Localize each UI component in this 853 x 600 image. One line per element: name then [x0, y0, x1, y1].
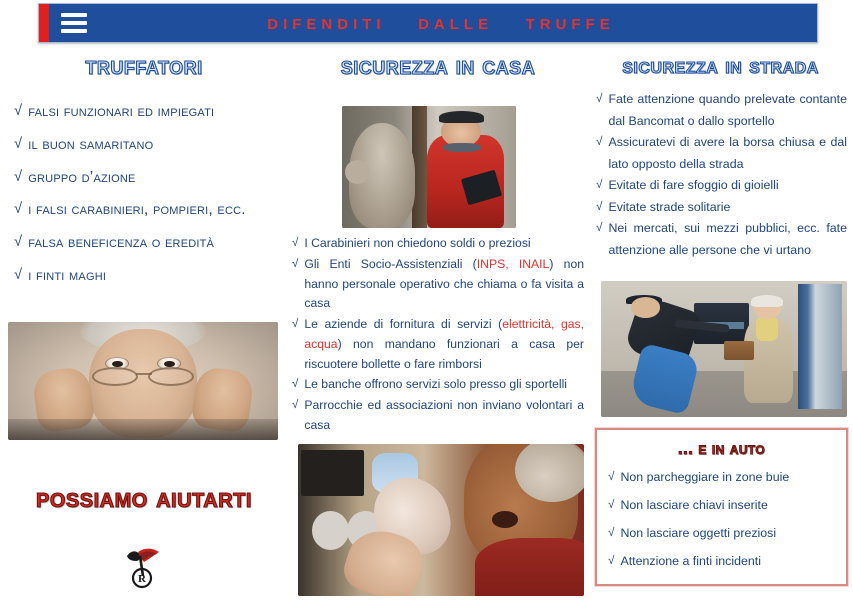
poster-page: Difenditi dalle Truffe Truffatori √ Fals… — [0, 0, 853, 600]
dark-panel-shape — [301, 450, 364, 496]
hamburger-line — [61, 13, 87, 17]
column-title-sicurezza-casa: Sicurezza in casa — [290, 52, 586, 81]
list-item-label: Le aziende di fornitura di servizi (elet… — [304, 315, 584, 374]
hair-bun-shape — [345, 160, 369, 184]
check-icon: √ — [14, 201, 22, 218]
shop-door-shape — [798, 284, 842, 409]
truffatori-list: √ Falsi Funzionari ed Impiegati √ Il Buo… — [0, 103, 288, 285]
list-item-label: Fate attenzione quando prelevate contant… — [608, 89, 847, 132]
thief-head-shape — [631, 297, 661, 317]
list-item-label: I falsi Carabinieri, Pompieri, ecc. — [28, 201, 288, 219]
list-item: √ Gruppo d’Azione — [14, 169, 288, 187]
sicurezza-casa-list: √ I Carabinieri non chiedono soldi o pre… — [292, 234, 584, 437]
check-icon: √ — [596, 218, 602, 238]
column-sicurezza-in-casa: Sicurezza in casa — [290, 52, 586, 81]
list-item-label: Falsa Beneficenza o Eredità — [28, 234, 288, 252]
list-item: √ Nei mercati, sui mezzi pubblici, ecc. … — [596, 218, 847, 261]
hamburger-line — [61, 21, 87, 25]
eyeglass-lens-right — [148, 367, 194, 386]
list-item: √ Non parcheggiare in zone buie — [608, 470, 846, 485]
shoulder-shape — [8, 419, 278, 440]
list-item: √ Assicuratevi di avere la borsa chiusa … — [596, 132, 847, 175]
column-sicurezza-in-strada: Sicurezza in Strada √ Fate attenzione qu… — [588, 52, 853, 262]
auto-list: √ Non parcheggiare in zone buie √ Non la… — [597, 470, 846, 569]
check-icon: √ — [14, 234, 22, 251]
auto-box-title: ... e in Auto — [597, 439, 846, 459]
list-item: √ Parrocchie ed associazioni non inviano… — [292, 396, 584, 436]
list-item: √ Non lasciare chiavi inserite — [608, 498, 846, 513]
list-item-label: Le banche offrono servizi solo presso gl… — [304, 375, 584, 395]
check-icon: √ — [596, 89, 602, 109]
list-item-label: Nei mercati, sui mezzi pubblici, ecc. fa… — [608, 218, 847, 261]
woman-hair-shape — [751, 295, 783, 307]
list-item-label: Non parcheggiare in zone buie — [620, 470, 846, 485]
list-item: √ Non lasciare oggetti preziosi — [608, 526, 846, 541]
list-item-label: Assicuratevi di avere la borsa chiusa e … — [608, 132, 847, 175]
list-item-label: Non lasciare chiavi inserite — [620, 498, 846, 513]
list-item: √ Attenzione a finti incidenti — [608, 554, 846, 569]
check-icon: √ — [596, 132, 602, 152]
eyeglass-lens-left — [92, 367, 138, 386]
column-truffatori: Truffatori √ Falsi Funzionari ed Impiega… — [0, 52, 288, 300]
jacket-collar-shape — [443, 143, 481, 153]
list-item-label: Il Buon Samaritano — [28, 136, 288, 154]
list-item-label: Attenzione a finti incidenti — [620, 554, 846, 569]
list-item: √ Gli Enti Socio-Assistenziali (INPS, IN… — [292, 255, 584, 314]
check-icon: √ — [608, 498, 614, 512]
check-icon: √ — [608, 470, 614, 484]
check-icon: √ — [292, 234, 298, 253]
bag-snatching-photo — [601, 281, 847, 417]
eyeglass-bridge — [136, 373, 152, 375]
auto-safety-box: ... e in Auto √ Non parcheggiare in zone… — [595, 428, 848, 586]
svg-text:R: R — [138, 573, 147, 585]
check-icon: √ — [596, 175, 602, 195]
check-icon: √ — [14, 267, 22, 284]
list-item: √ I Finti Maghi — [14, 267, 288, 285]
column-title-sicurezza-strada: Sicurezza in Strada — [588, 52, 853, 79]
header-accent-bar — [39, 4, 49, 42]
column-title-truffatori: Truffatori — [0, 52, 288, 81]
list-item-label: Gruppo d’Azione — [28, 169, 288, 187]
list-item-label: Gli Enti Socio-Assistenziali (INPS, INAI… — [304, 255, 584, 314]
check-icon: √ — [596, 197, 602, 217]
list-item: √ I falsi Carabinieri, Pompieri, ecc. — [14, 201, 288, 219]
list-item-label: I Finti Maghi — [28, 267, 288, 285]
check-icon: √ — [292, 255, 298, 274]
list-item-label: Parrocchie ed associazioni non inviano v… — [304, 396, 584, 436]
scarf-shape — [756, 316, 778, 340]
list-item: √ Evitate di fare sfoggio di gioielli — [596, 175, 847, 197]
header-bar: Difenditi dalle Truffe — [38, 3, 818, 43]
red-garment-shape — [475, 538, 584, 596]
check-icon: √ — [14, 169, 22, 186]
check-icon: √ — [292, 396, 298, 415]
list-item: √ Falsi Funzionari ed Impiegati — [14, 103, 288, 121]
list-item: √ Le aziende di fornitura di servizi (el… — [292, 315, 584, 374]
list-item: √ Falsa Beneficenza o Eredità — [14, 234, 288, 252]
list-item-label: Falsi Funzionari ed Impiegati — [28, 103, 288, 121]
check-icon: √ — [608, 554, 614, 568]
hands-at-door-photo — [298, 444, 584, 596]
list-item-label: I Carabinieri non chiedono soldi o prezi… — [304, 234, 584, 254]
elderly-woman-at-door-photo — [342, 106, 516, 228]
list-item-label: Evitate strade solitarie — [608, 197, 847, 219]
check-icon: √ — [292, 375, 298, 394]
slogan-possiamo-aiutarti: Possiamo Aiutarti — [0, 482, 288, 514]
check-icon: √ — [608, 526, 614, 540]
hamburger-menu-icon[interactable] — [61, 13, 87, 33]
ear-shape — [492, 511, 518, 528]
elderly-man-with-glasses-photo — [8, 322, 278, 440]
check-icon: √ — [14, 136, 22, 153]
sicurezza-strada-list: √ Fate attenzione quando prelevate conta… — [588, 89, 853, 262]
hamburger-line — [61, 29, 87, 33]
page-title: Difenditi dalle Truffe — [39, 11, 817, 35]
check-icon: √ — [14, 103, 22, 120]
highlighted-text: INPS, INAIL — [477, 257, 550, 271]
man-cap-shape — [439, 111, 484, 123]
list-item-label: Non lasciare oggetti preziosi — [620, 526, 846, 541]
list-item: √ Il Buon Samaritano — [14, 136, 288, 154]
check-icon: √ — [292, 315, 298, 334]
list-item: √ Fate attenzione quando prelevate conta… — [596, 89, 847, 132]
list-item-label: Evitate di fare sfoggio di gioielli — [608, 175, 847, 197]
list-item: √ Evitate strade solitarie — [596, 197, 847, 219]
flag-emblem-logo: R — [119, 542, 165, 590]
list-item: √ I Carabinieri non chiedono soldi o pre… — [292, 234, 584, 254]
hair-shape — [515, 444, 584, 502]
list-item: √ Le banche offrono servizi solo presso … — [292, 375, 584, 395]
handbag-shape — [724, 341, 754, 360]
